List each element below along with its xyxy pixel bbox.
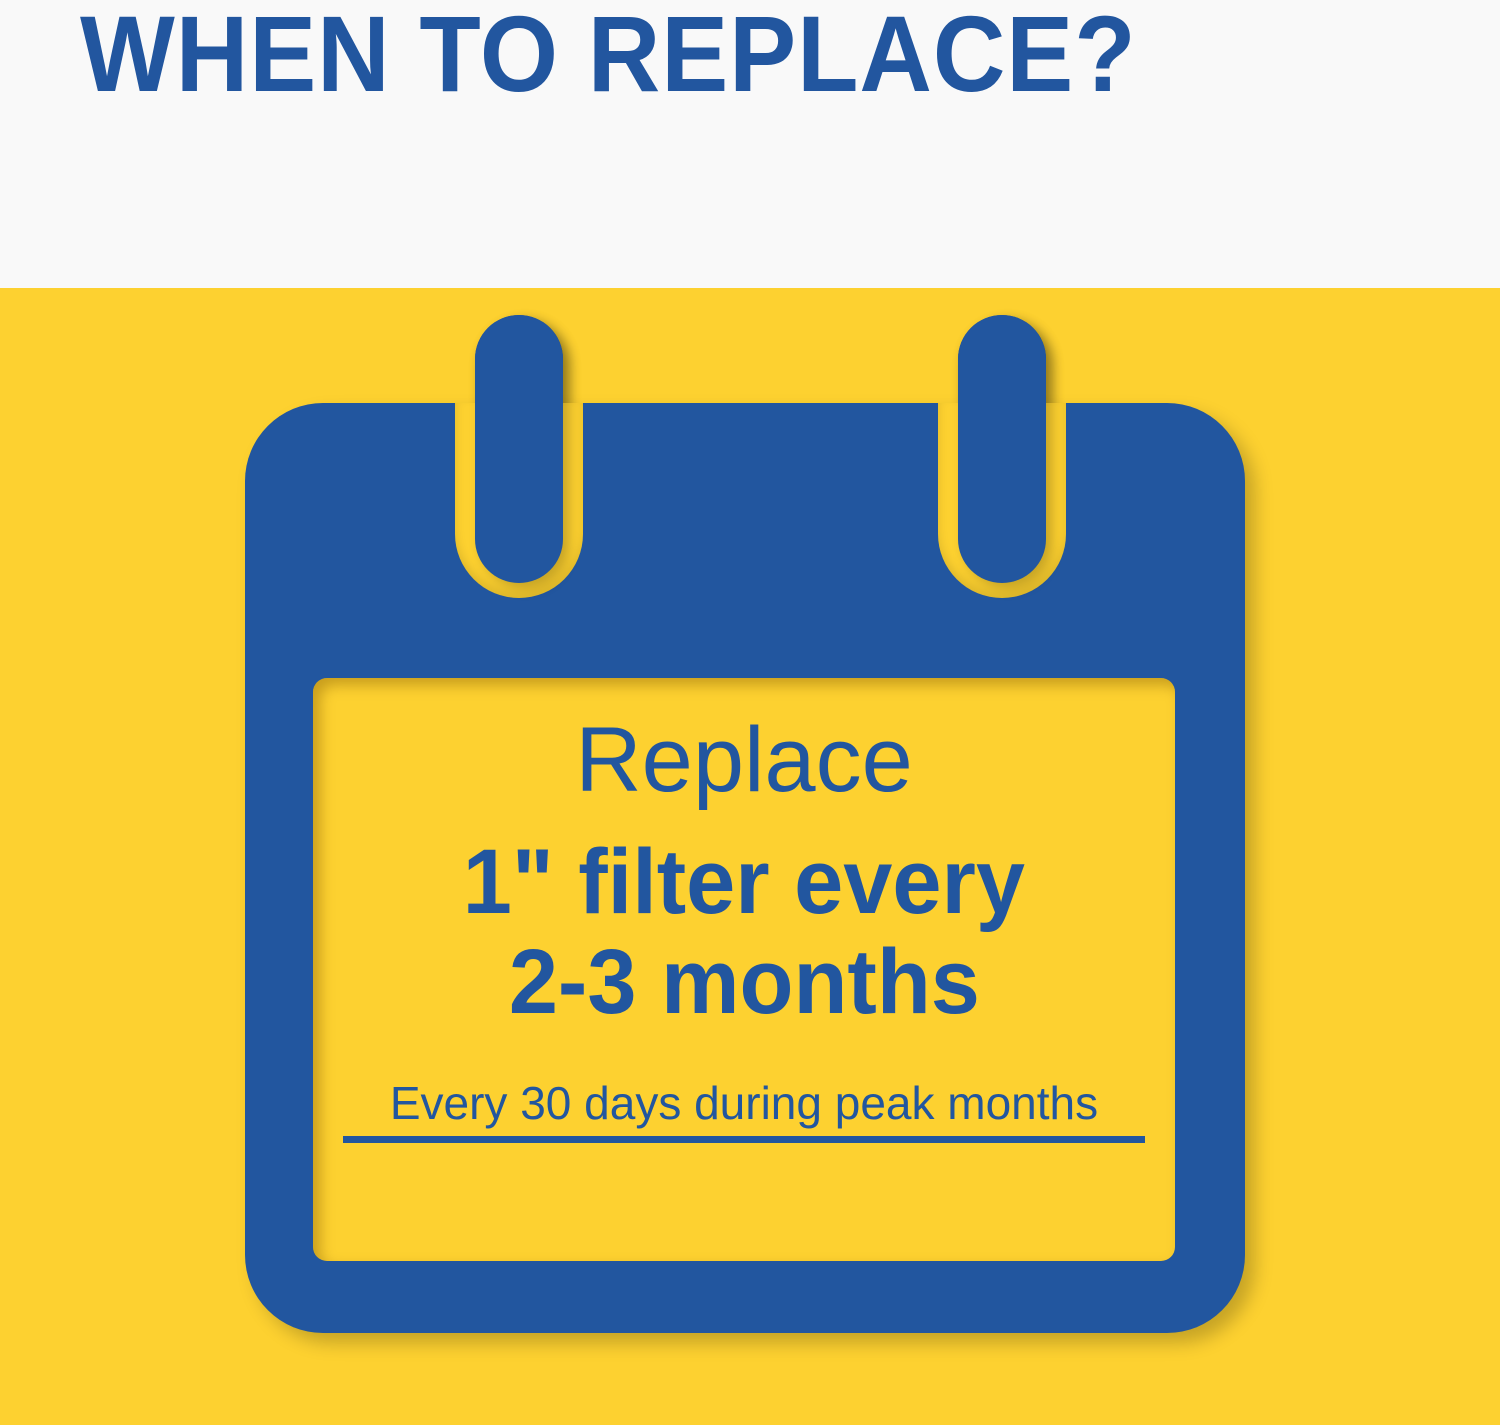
yellow-stage: Replace 1" filter every 2-3 months Every… [0,288,1500,1425]
calendar-ring-right [958,315,1046,583]
calendar-headline-line-2: 2-3 months [508,932,979,1032]
page-title: WHEN TO REPLACE? [80,0,1137,110]
calendar-note: Every 30 days during peak months [343,1076,1145,1130]
calendar-note-underline: Every 30 days during peak months [343,1076,1145,1143]
when-to-replace-infographic: WHEN TO REPLACE? Replace 1" filter every… [0,0,1500,1425]
calendar-page: Replace 1" filter every 2-3 months Every… [313,678,1175,1261]
calendar-headline-line-1: 1" filter every [463,810,1025,932]
calendar-icon: Replace 1" filter every 2-3 months Every… [245,315,1245,1333]
calendar-kicker: Replace [575,678,913,810]
header-band: WHEN TO REPLACE? [0,0,1500,288]
calendar-ring-left [475,315,563,583]
calendar-body: Replace 1" filter every 2-3 months Every… [245,403,1245,1333]
